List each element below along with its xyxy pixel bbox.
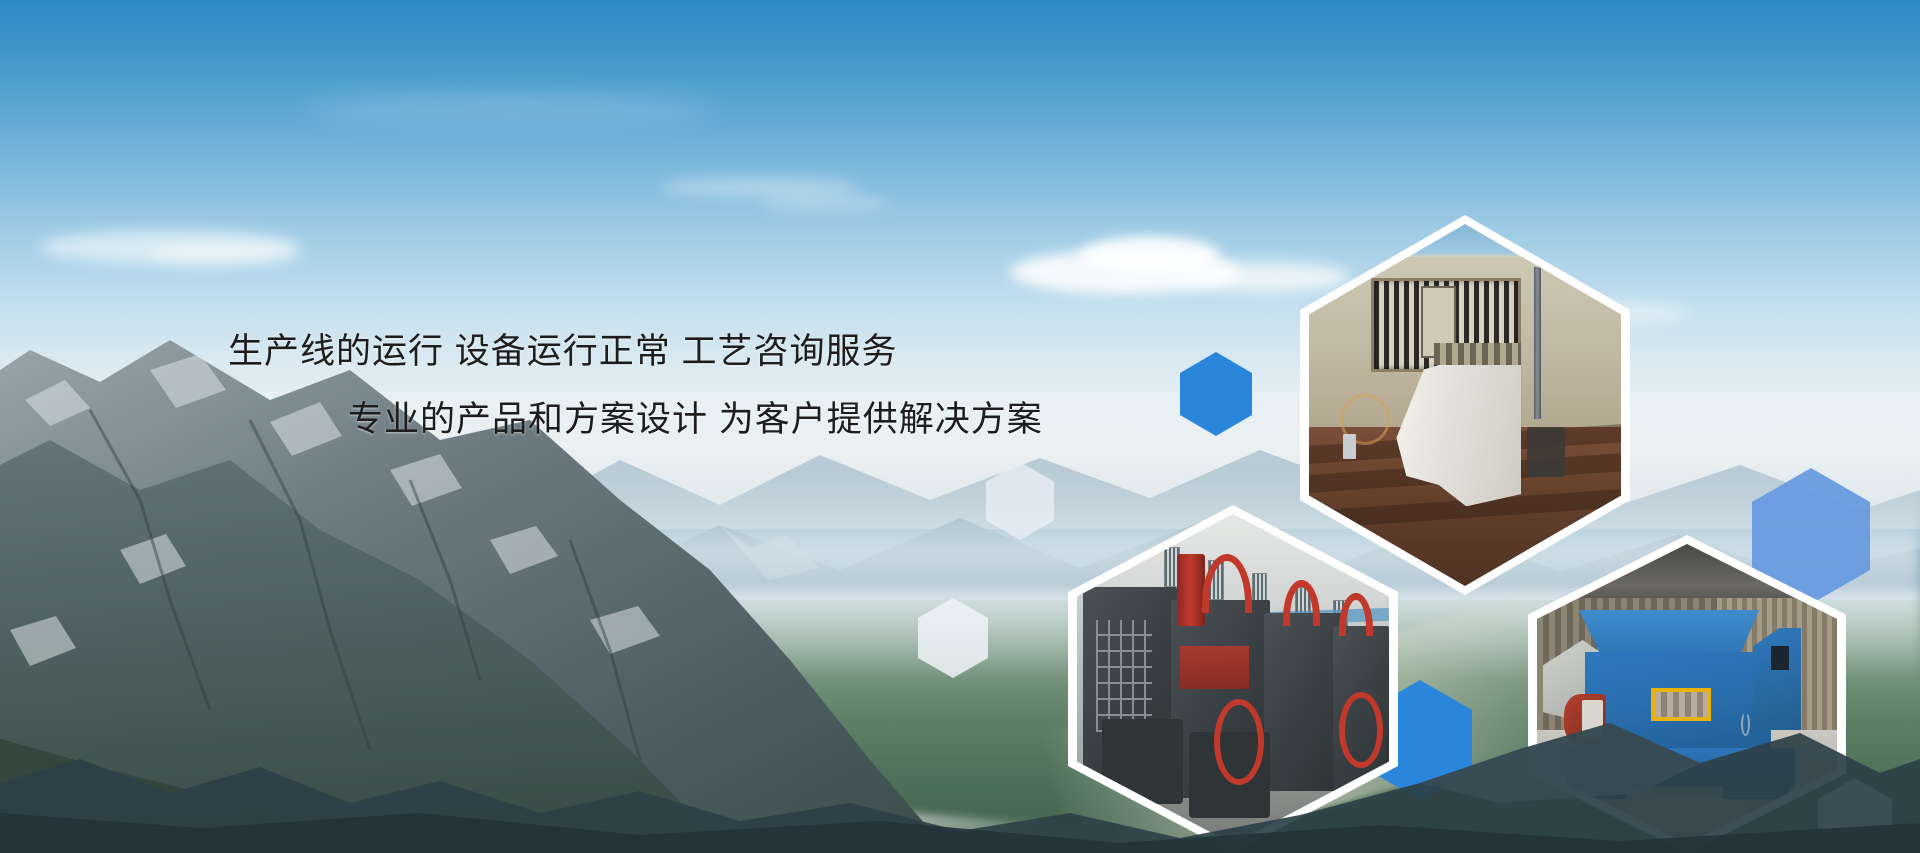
skid-foot <box>1573 778 1627 799</box>
scaffold-rails <box>1096 620 1152 732</box>
steel-post <box>1534 267 1542 419</box>
lifting-hook <box>1741 712 1750 736</box>
floor-light <box>1627 796 1747 832</box>
red-handwheel <box>1214 699 1264 785</box>
hex-photo-clip <box>1537 544 1837 844</box>
cloud <box>660 178 860 196</box>
blue-shredder-photo <box>1537 544 1837 844</box>
hex-frame <box>1528 535 1846 853</box>
headline-line-1: 生产线的运行 设备运行正常 工艺咨询服务 <box>228 325 1208 379</box>
machine-flange <box>1434 343 1521 365</box>
red-panel <box>1180 646 1249 689</box>
motor-housing <box>1582 700 1603 739</box>
red-cylinder <box>1177 554 1205 627</box>
hex-photo-clip <box>1077 514 1389 844</box>
yellow-inspection-window <box>1651 688 1711 721</box>
equipment-crate <box>1527 427 1564 478</box>
hero-banner: 生产线的运行 设备运行正常 工艺咨询服务 专业的产品和方案设计 为客户提供解决方… <box>0 0 1920 853</box>
gray-drum <box>1102 719 1183 805</box>
headline-line-2: 专业的产品和方案设计 为客户提供解决方案 <box>348 393 1208 447</box>
skid-foot <box>1723 778 1789 799</box>
hex-photo-blue-shredder[interactable] <box>1528 535 1846 853</box>
warehouse-roof <box>1537 544 1837 604</box>
cloud <box>150 243 300 265</box>
red-handwheel <box>1339 692 1383 768</box>
headline-block: 生产线的运行 设备运行正常 工艺咨询服务 专业的产品和方案设计 为客户提供解决方… <box>228 325 1208 448</box>
cab-window <box>1771 646 1789 670</box>
bucket <box>1343 434 1355 459</box>
press-line-photo <box>1077 514 1389 844</box>
cloud <box>760 196 890 210</box>
hex-photo-press-line[interactable] <box>1068 505 1398 853</box>
cloud-wisp <box>300 95 720 121</box>
shredder-cab <box>1753 628 1801 730</box>
hex-frame <box>1068 505 1398 853</box>
